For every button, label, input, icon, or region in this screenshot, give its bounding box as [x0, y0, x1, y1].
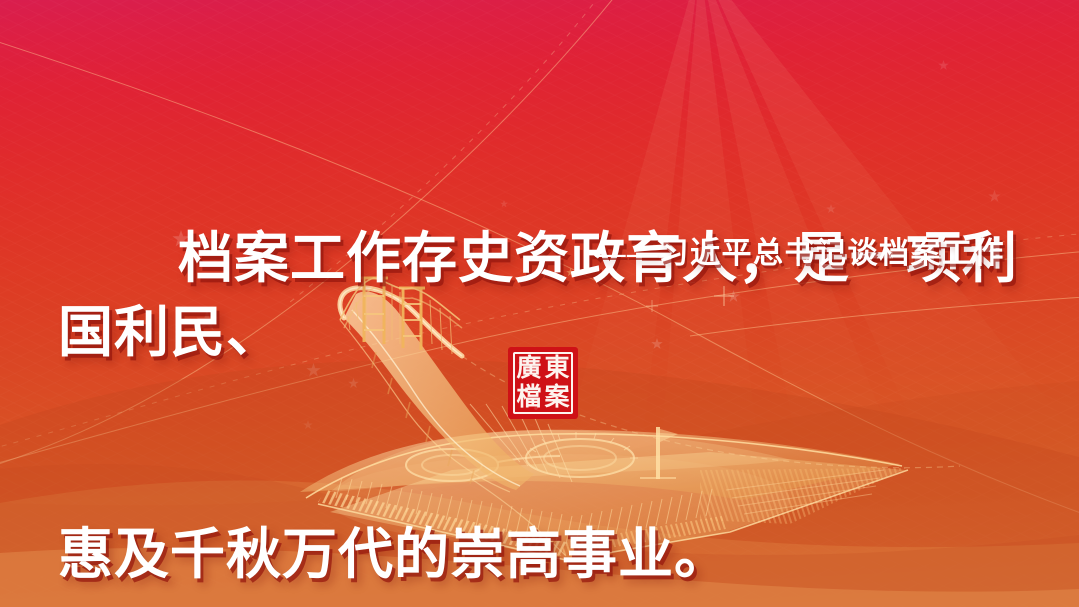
seal-char-4: 檔: [515, 383, 543, 412]
page-headline: 档案工作存史资政育人，是一项利国利民、 惠及千秋万代的崇高事业。: [58, 74, 1048, 607]
seal-characters: 東 廣 案 檔: [515, 354, 571, 412]
archive-seal-stamp: 東 廣 案 檔: [508, 347, 578, 419]
headline-attribution: ——习近平总书记谈档案工作: [596, 234, 1006, 274]
poster-canvas: 档案工作存史资政育人，是一项利国利民、 惠及千秋万代的崇高事业。 ——习近平总书…: [0, 0, 1079, 607]
seal-char-1: 東: [543, 354, 571, 383]
seal-char-2: 廣: [515, 354, 543, 383]
headline-line-2: 惠及千秋万代的崇高事业。: [58, 518, 1048, 592]
seal-char-3: 案: [543, 383, 571, 412]
